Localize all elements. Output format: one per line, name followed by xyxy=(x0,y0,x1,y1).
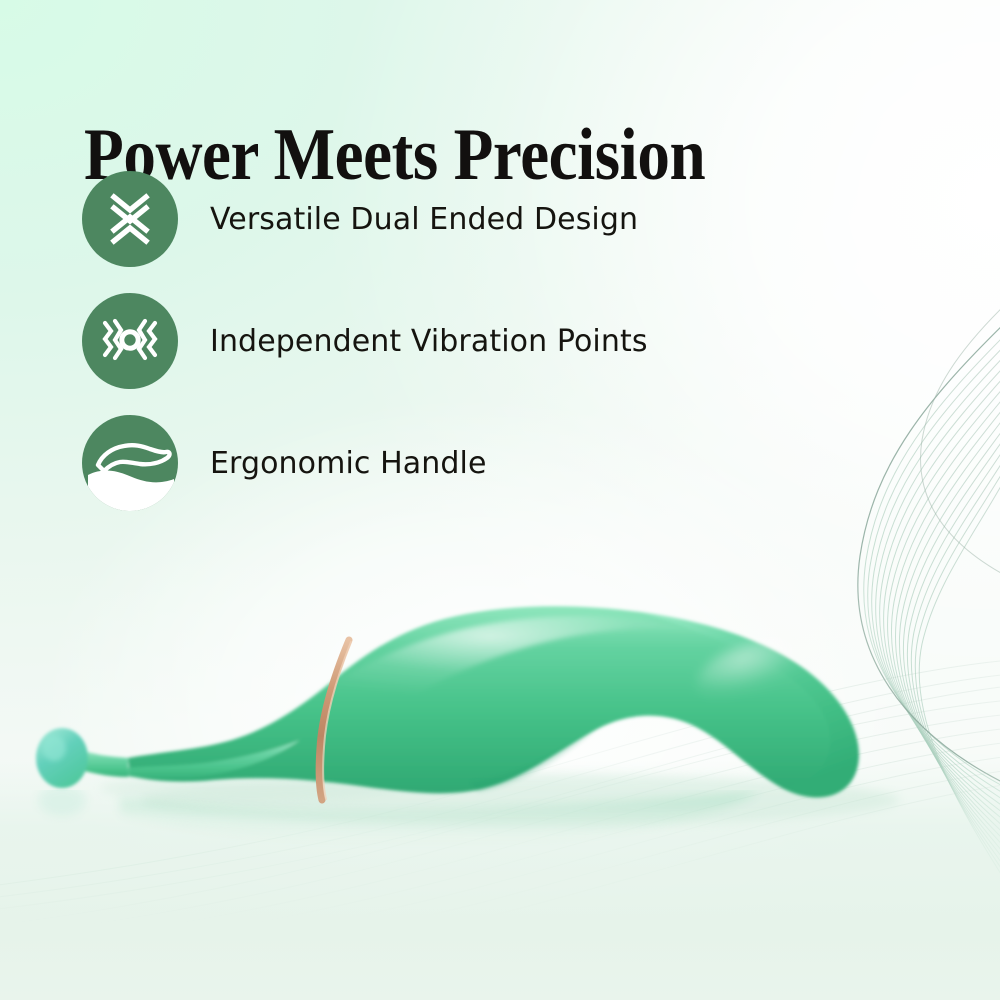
feature-badge xyxy=(82,171,178,267)
feature-item-dual-ended-design: Versatile Dual Ended Design xyxy=(82,170,782,268)
feature-badge xyxy=(82,293,178,389)
feature-label: Versatile Dual Ended Design xyxy=(210,202,638,237)
background-floor xyxy=(0,760,1000,1000)
feature-item-independent-vibration: Independent Vibration Points xyxy=(82,292,782,390)
feature-badge xyxy=(82,415,178,511)
feature-item-ergonomic-handle: Ergonomic Handle xyxy=(82,414,782,512)
feature-label: Independent Vibration Points xyxy=(210,324,648,359)
product-feature-card: Power Meets Precision Versatile Dual xyxy=(0,0,1000,1000)
feature-label: Ergonomic Handle xyxy=(210,446,487,481)
double-chevron-dual-end-icon xyxy=(101,190,159,248)
open-hand-icon xyxy=(82,415,178,511)
feature-list: Versatile Dual Ended Design xyxy=(82,170,782,536)
vibration-waves-icon xyxy=(100,313,160,369)
